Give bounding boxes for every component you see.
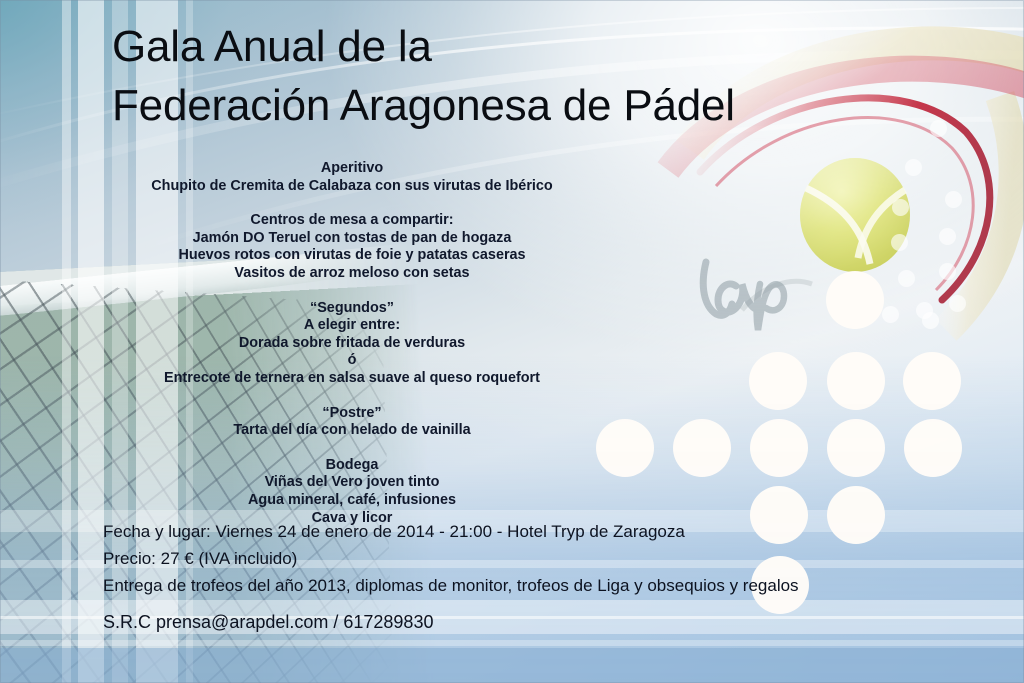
poster-frame (0, 0, 1024, 683)
poster-canvas: Gala Anual de la Federación Aragonesa de… (0, 0, 1024, 683)
